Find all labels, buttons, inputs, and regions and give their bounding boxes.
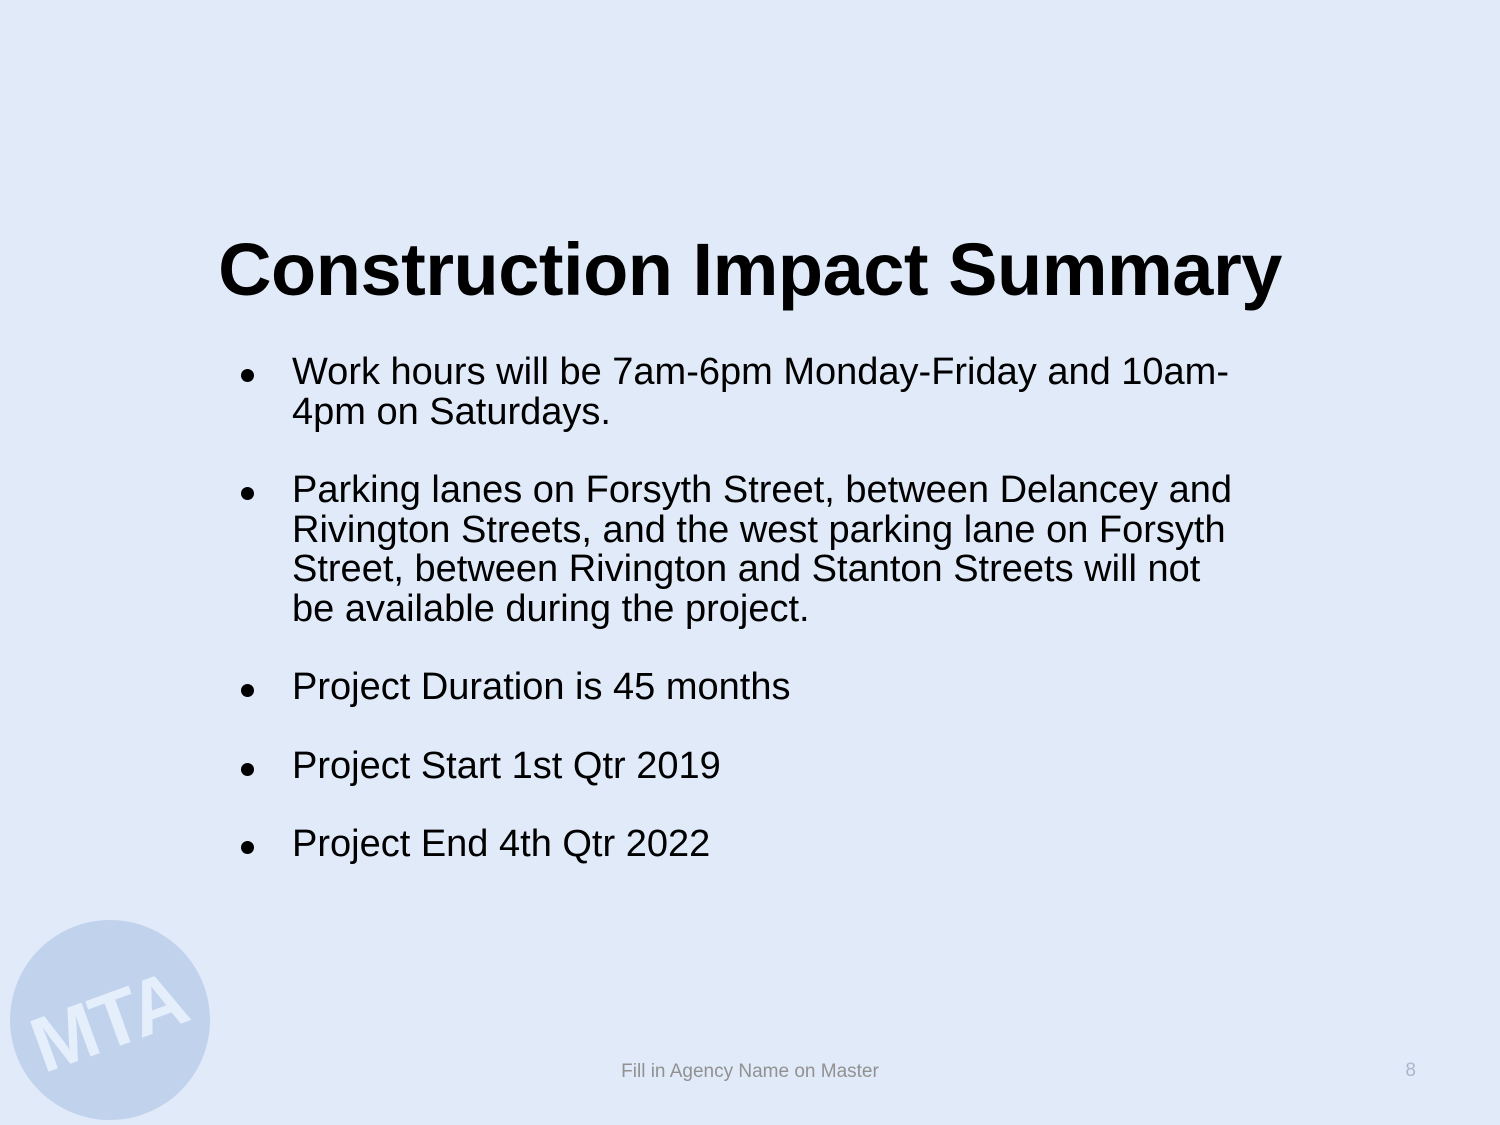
page-title: Construction Impact Summary bbox=[120, 228, 1380, 312]
list-item: Project Duration is 45 months bbox=[232, 668, 1242, 708]
list-item: Parking lanes on Forsyth Street, between… bbox=[232, 471, 1242, 629]
bullet-dot-icon bbox=[241, 487, 254, 500]
bullet-dot-icon bbox=[241, 763, 254, 776]
bullet-dot-icon bbox=[241, 841, 254, 854]
list-item-text: Project Duration is 45 months bbox=[292, 668, 1242, 708]
mta-logo-circle bbox=[10, 920, 210, 1120]
list-item-text: Work hours will be 7am-6pm Monday-Friday… bbox=[292, 353, 1242, 432]
presentation-slide: MTA Construction Impact Summary Work hou… bbox=[0, 0, 1500, 1125]
list-item-text: Project End 4th Qtr 2022 bbox=[292, 825, 1242, 865]
bullet-list: Work hours will be 7am-6pm Monday-Friday… bbox=[232, 353, 1242, 865]
list-item: Project Start 1st Qtr 2019 bbox=[232, 747, 1242, 787]
bullet-dot-icon bbox=[241, 369, 254, 382]
footer-agency-placeholder: Fill in Agency Name on Master bbox=[0, 1060, 1500, 1084]
list-item: Work hours will be 7am-6pm Monday-Friday… bbox=[232, 353, 1242, 432]
mta-logo-watermark: MTA bbox=[8, 918, 213, 1123]
bullet-dot-icon bbox=[241, 684, 254, 697]
slide-page-number: 8 bbox=[1405, 1059, 1416, 1083]
list-item-text: Parking lanes on Forsyth Street, between… bbox=[292, 471, 1242, 629]
list-item: Project End 4th Qtr 2022 bbox=[232, 825, 1242, 865]
list-item-text: Project Start 1st Qtr 2019 bbox=[292, 747, 1242, 787]
